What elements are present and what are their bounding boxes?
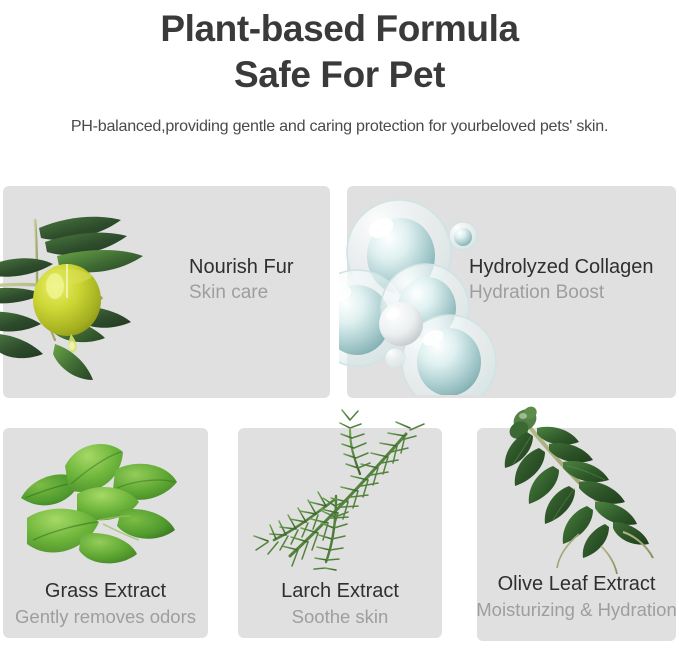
feature-card-larch-subtitle: Soothe skin xyxy=(281,604,399,629)
page-title: Plant-based Formula Safe For Pet xyxy=(0,0,679,98)
feature-card-larch: Larch Extract Soothe skin xyxy=(238,428,442,638)
page-tagline: PH-balanced,providing gentle and caring … xyxy=(0,116,679,136)
feature-card-larch-title: Larch Extract xyxy=(281,579,399,604)
feature-card-olive-title: Olive Leaf Extract xyxy=(476,572,677,597)
header: Plant-based Formula Safe For Pet PH-bala… xyxy=(0,0,679,98)
page-title-line-1: Plant-based Formula xyxy=(160,8,518,49)
feature-card-larch-text: Larch Extract Soothe skin xyxy=(281,579,399,629)
feature-card-nourish-fur-subtitle: Skin care xyxy=(189,280,293,305)
feature-card-olive: Olive Leaf Extract Moisturizing & Hydrat… xyxy=(477,428,676,641)
feature-card-collagen-subtitle: Hydration Boost xyxy=(469,280,654,305)
feature-card-nourish-fur: Nourish Fur Skin care xyxy=(3,186,330,398)
feature-card-olive-subtitle: Moisturizing & Hydration xyxy=(476,597,677,622)
feature-card-grass-title: Grass Extract xyxy=(15,579,196,604)
feature-card-collagen-title: Hydrolyzed Collagen xyxy=(469,255,654,280)
feature-card-grass: Grass Extract Gently removes odors xyxy=(3,428,208,638)
page-title-line-2: Safe For Pet xyxy=(0,52,679,98)
feature-card-nourish-fur-title: Nourish Fur xyxy=(189,255,293,280)
olive-leaf-sprig-icon xyxy=(483,406,675,578)
feature-card-collagen: Hydrolyzed Collagen Hydration Boost xyxy=(347,186,676,398)
feature-card-collagen-text: Hydrolyzed Collagen Hydration Boost xyxy=(469,255,654,305)
feature-card-grass-text: Grass Extract Gently removes odors xyxy=(15,579,196,629)
basil-leaves-icon xyxy=(11,436,201,581)
feature-card-nourish-fur-text: Nourish Fur Skin care xyxy=(189,255,293,305)
feature-card-grass-subtitle: Gently removes odors xyxy=(15,604,196,629)
feature-card-olive-text: Olive Leaf Extract Moisturizing & Hydrat… xyxy=(476,572,677,622)
larch-sprig-icon xyxy=(238,406,442,584)
